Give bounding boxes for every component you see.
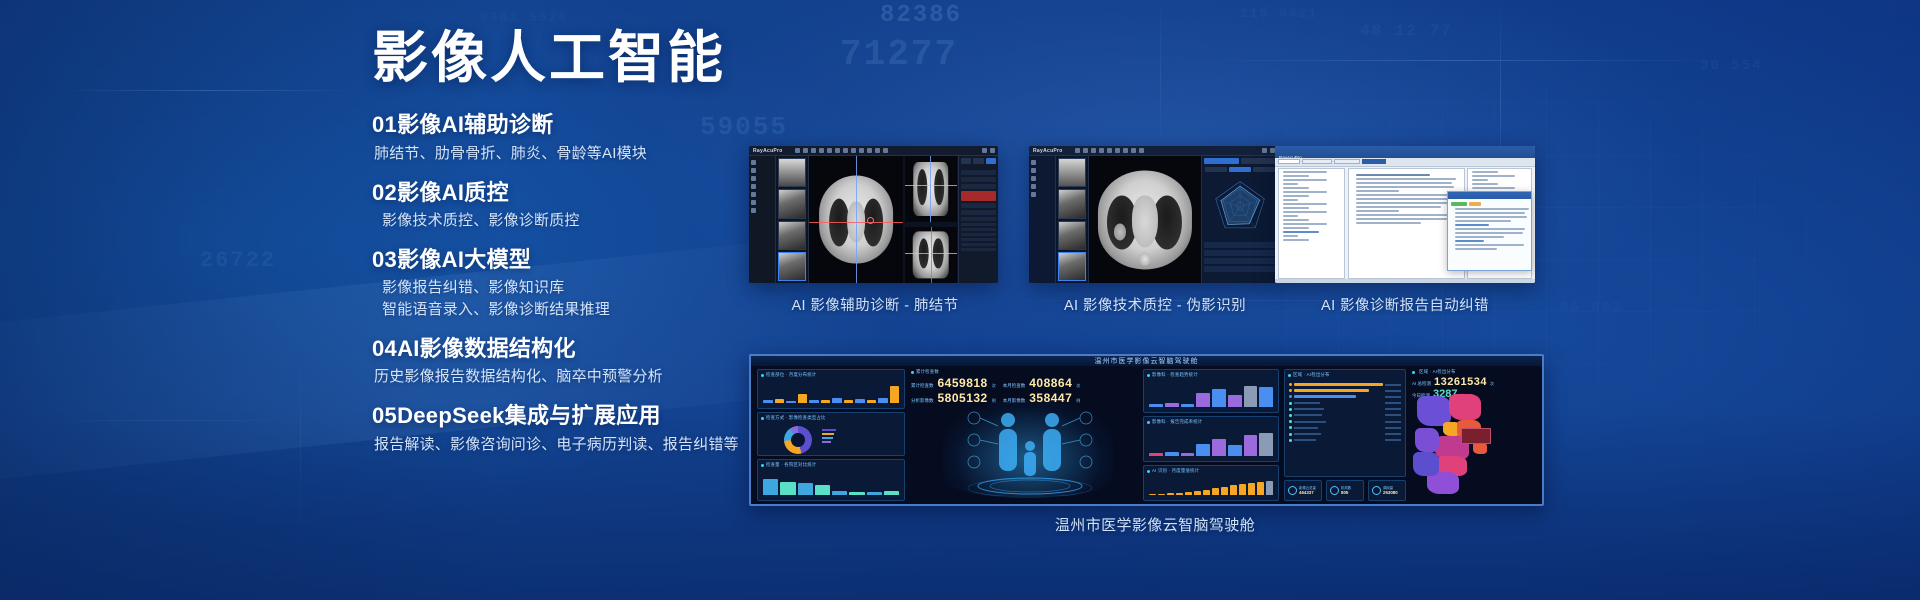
qc-viewer-ui: RayAcuPro xyxy=(1029,146,1278,283)
rail-icon-export[interactable] xyxy=(751,192,756,197)
ranking-row[interactable] xyxy=(1289,383,1401,386)
tool-icon-text[interactable] xyxy=(1123,148,1128,153)
ct-left-toolrail[interactable] xyxy=(749,156,776,283)
dashboard-card-region-ranking[interactable]: 区域 · AI检出分布 xyxy=(1284,369,1406,477)
tool-icon-arrow[interactable] xyxy=(859,148,864,153)
cloud-icon xyxy=(1288,486,1297,495)
findings-row[interactable] xyxy=(961,243,996,246)
qc-filter-all[interactable] xyxy=(1205,167,1227,172)
card-title: 影像科 · 检查趋势统计 xyxy=(1152,372,1198,378)
rail-icon-compare[interactable] xyxy=(751,208,756,213)
qc-radar-chart xyxy=(1205,178,1275,236)
tool-icon-pan[interactable] xyxy=(811,148,816,153)
dashboard-tile-cloud-total[interactable]: 影像云总量 464337 xyxy=(1284,480,1322,501)
radar-svg xyxy=(1205,178,1275,236)
tool-icon-text[interactable] xyxy=(851,148,856,153)
dashboard-region-map[interactable] xyxy=(1413,394,1499,498)
findings-row[interactable] xyxy=(961,210,996,215)
series-thumbnail[interactable] xyxy=(778,221,805,250)
ct-series-thumbnails[interactable] xyxy=(776,156,808,283)
bar-chart-report-rate xyxy=(1149,431,1273,456)
pie-legend xyxy=(822,429,836,443)
ranking-row[interactable] xyxy=(1289,408,1401,411)
dashboard-tile-institutions[interactable]: 机构数 805 xyxy=(1326,480,1364,501)
ai-kpi-value-1: 13261534 xyxy=(1434,376,1487,388)
rail-icon-mpr[interactable] xyxy=(751,168,756,173)
findings-row[interactable] xyxy=(961,248,996,251)
ranking-row[interactable] xyxy=(1289,420,1401,423)
card-title: 检查方式 · 影像检查类型占比 xyxy=(766,415,826,421)
ranking-row[interactable] xyxy=(1289,395,1401,398)
ranking-row[interactable] xyxy=(1289,433,1401,436)
bar-chart-ai-monthly xyxy=(1149,480,1273,495)
map-region-wencheng[interactable] xyxy=(1415,428,1439,452)
qc-left-toolrail[interactable] xyxy=(1029,156,1056,283)
kpi-label-2: 本月检查数 xyxy=(1003,383,1026,389)
feature-item-01: 01影像AI辅助诊断 肺结节、肋骨骨折、肺炎、骨龄等AI模块 xyxy=(372,110,802,164)
kpi-unit-2: 次 xyxy=(1076,383,1080,389)
feature-item-02: 02影像AI质控 影像技术质控、影像诊断质控 xyxy=(372,178,802,232)
rail-icon-print[interactable] xyxy=(751,200,756,205)
ranking-row[interactable] xyxy=(1289,402,1401,405)
tool-icon-zoom[interactable] xyxy=(1083,148,1088,153)
toolbar-icons[interactable] xyxy=(795,148,888,153)
qc-toolbar[interactable]: RayAcuPro xyxy=(1029,146,1278,156)
feature-item-05: 05DeepSeek集成与扩展应用 报告解读、影像咨询问诊、电子病历判读、报告纠… xyxy=(372,401,802,455)
feature-subtitle-01: 肺结节、肋骨骨折、肺炎、骨龄等AI模块 xyxy=(374,143,802,165)
ai-kpi-section-title: 区域 · AI检出分布 xyxy=(1419,369,1456,375)
findings-row[interactable] xyxy=(961,177,996,182)
pie-chart-modality-ratio xyxy=(784,426,812,454)
ct-ai-findings-panel[interactable] xyxy=(958,156,998,283)
rail-icon-series[interactable] xyxy=(1031,160,1036,165)
qc-findings-row[interactable] xyxy=(1204,250,1276,256)
series-thumbnail[interactable] xyxy=(1058,189,1085,218)
findings-row-selected[interactable] xyxy=(961,191,996,201)
series-thumbnail[interactable] xyxy=(1058,158,1085,187)
series-thumbnail[interactable] xyxy=(778,158,805,187)
qc-findings-row[interactable] xyxy=(1204,258,1276,264)
bar-chart-exam-distribution xyxy=(763,384,899,403)
app-brand-label: RayAcuPro xyxy=(749,148,783,154)
qc-filter-normal[interactable] xyxy=(1253,167,1275,172)
series-thumbnail[interactable] xyxy=(778,189,805,218)
tool-icon-measure[interactable] xyxy=(827,148,832,153)
feature-title-01: 01影像AI辅助诊断 xyxy=(372,110,802,139)
ct-viewer-ui: RayAcuPro xyxy=(749,146,998,283)
feature-subtitle-02: 影像技术质控、影像诊断质控 xyxy=(382,210,802,232)
kpi-section-title: 累计检查数 xyxy=(916,369,939,375)
feature-title-03: 03影像AI大模型 xyxy=(372,245,802,274)
tile-value: 464337 xyxy=(1299,490,1316,495)
minimize-icon[interactable] xyxy=(1262,148,1267,153)
tool-icon-roi[interactable] xyxy=(1115,148,1120,153)
dashboard-card-report-rate[interactable]: 影像科 · 报告完成率统计 xyxy=(1143,416,1279,462)
hologram-svg xyxy=(956,400,1104,496)
map-region-yueqing[interactable] xyxy=(1449,394,1481,420)
ct-sagittal-view[interactable] xyxy=(905,227,957,283)
screenshot-ct-nodule[interactable]: RayAcuPro xyxy=(749,146,998,283)
eye-icon xyxy=(1372,486,1381,495)
series-thumbnail[interactable] xyxy=(778,252,805,281)
close-icon[interactable] xyxy=(990,148,995,153)
tool-icon-invert[interactable] xyxy=(1131,148,1136,153)
qc-analysis-panel[interactable] xyxy=(1201,156,1278,283)
report-tab[interactable] xyxy=(1278,159,1300,164)
qc-findings-row[interactable] xyxy=(1204,242,1276,248)
tool-icon-angle[interactable] xyxy=(835,148,840,153)
settings-gear-icon[interactable] xyxy=(982,148,987,153)
report-statusbar xyxy=(1275,279,1535,283)
card-title: 检查部位 · 月度分布统计 xyxy=(766,372,816,378)
status-badge-warn xyxy=(1469,202,1481,206)
tool-icon-window[interactable] xyxy=(819,148,824,153)
tool-icon-layout[interactable] xyxy=(1139,148,1144,153)
qc-tab-buttons[interactable] xyxy=(1204,158,1276,164)
card-title: 检查量 · 各院区对比统计 xyxy=(766,462,816,468)
bar-chart-dept-trend xyxy=(1149,384,1273,407)
findings-row[interactable] xyxy=(961,217,996,221)
status-badge-pass xyxy=(1451,202,1467,206)
dashboard-ui: 温州市医学影像云智脑驾驶舱 检查部位 · 月度分布统计 xyxy=(751,356,1542,504)
kpi-unit-1: 次 xyxy=(992,383,996,389)
tool-icon-window[interactable] xyxy=(1099,148,1104,153)
caption-report-autocorrect: AI 影像诊断报告自动纠错 xyxy=(1250,294,1560,315)
feature-title-04: 04AI影像数据结构化 xyxy=(372,334,802,363)
dashboard-card-dept-trend[interactable]: 影像科 · 检查趋势统计 xyxy=(1143,369,1279,413)
rail-icon-ai[interactable] xyxy=(751,184,756,189)
findings-row[interactable] xyxy=(961,233,996,236)
qc-findings-list[interactable] xyxy=(1204,242,1276,272)
findings-row[interactable] xyxy=(961,228,996,231)
findings-row[interactable] xyxy=(961,203,996,208)
kpi-label-3: 分析影像数 xyxy=(911,398,934,404)
series-thumbnail[interactable] xyxy=(1058,221,1085,250)
kpi-value-2: 408864 xyxy=(1029,376,1072,390)
kpi-label-1: 累计检查数 xyxy=(911,383,934,389)
toolbar-icons[interactable] xyxy=(1075,148,1144,153)
series-thumbnail[interactable] xyxy=(1058,252,1085,281)
ranking-row[interactable] xyxy=(1289,426,1401,429)
qc-series-thumbnails[interactable] xyxy=(1056,156,1088,283)
tool-icon-reset[interactable] xyxy=(875,148,880,153)
dashboard-card-campus-compare[interactable]: 检查量 · 各院区对比统计 xyxy=(757,459,905,501)
dashboard-card-exam-distribution[interactable]: 检查部位 · 月度分布统计 xyxy=(757,369,905,409)
feature-subtitle-05: 报告解读、影像咨询问诊、电子病历判读、报告纠错等 xyxy=(374,434,802,456)
rail-icon-ai[interactable] xyxy=(1031,176,1036,181)
report-tabbar[interactable] xyxy=(1275,158,1535,166)
tool-icon-roi[interactable] xyxy=(843,148,848,153)
ct-axial-view[interactable] xyxy=(809,156,904,283)
findings-action-buttons[interactable] xyxy=(961,158,996,164)
tool-icon-invert[interactable] xyxy=(867,148,872,153)
rail-icon-report[interactable] xyxy=(1031,184,1036,189)
rail-icon-series[interactable] xyxy=(751,160,756,165)
screenshot-report-autocorrect[interactable]: RayAcuPro xyxy=(1275,146,1535,283)
findings-row[interactable] xyxy=(961,238,996,241)
findings-button-export[interactable] xyxy=(973,158,983,164)
findings-button-save[interactable] xyxy=(961,158,971,164)
feature-list-column: 影像人工智能 01影像AI辅助诊断 肺结节、肋骨骨折、肺炎、骨龄等AI模块 02… xyxy=(372,28,802,468)
report-titlebar[interactable]: RayAcuPro xyxy=(1275,146,1535,158)
report-worklist-tree[interactable] xyxy=(1278,168,1346,279)
rail-icon-3d[interactable] xyxy=(751,176,756,181)
card-title: AI 识别 · 月度量值统计 xyxy=(1152,468,1199,474)
qc-main-image[interactable] xyxy=(1089,156,1201,283)
ct-coronal-view[interactable] xyxy=(905,156,957,222)
tool-icon-zoom[interactable] xyxy=(803,148,808,153)
ai-kpi-unit-1: 次 xyxy=(1490,381,1494,387)
report-tab[interactable] xyxy=(1302,159,1332,164)
ct-toolbar[interactable]: RayAcuPro xyxy=(749,146,998,156)
banner-root: 82386 71277 59055 26722 48 12 77 30 554 … xyxy=(0,0,1920,600)
tool-icon-cursor[interactable] xyxy=(795,148,800,153)
dashboard-card-modality-ratio[interactable]: 检查方式 · 影像检查类型占比 xyxy=(757,412,905,456)
map-region-taishun[interactable] xyxy=(1413,452,1439,476)
findings-row[interactable] xyxy=(961,184,996,189)
report-editor-ui: RayAcuPro xyxy=(1275,146,1535,283)
tool-icon-cursor[interactable] xyxy=(1075,148,1080,153)
screenshot-qc-artifact[interactable]: RayAcuPro xyxy=(1029,146,1278,283)
feature-title-05: 05DeepSeek集成与扩展应用 xyxy=(372,401,802,430)
screenshot-dashboard[interactable]: 温州市医学影像云智脑驾驶舱 检查部位 · 月度分布统计 xyxy=(749,354,1544,506)
qc-tab-quality[interactable] xyxy=(1204,158,1239,164)
ranking-row[interactable] xyxy=(1289,414,1401,417)
tool-icon-layout[interactable] xyxy=(883,148,888,153)
tile-value: 805 xyxy=(1341,490,1351,495)
rail-icon-qc[interactable] xyxy=(1031,168,1036,173)
caption-dashboard: 温州市医学影像云智脑驾驶舱 xyxy=(975,514,1335,535)
qc-filter-abnormal[interactable] xyxy=(1229,167,1251,172)
tool-icon-measure[interactable] xyxy=(1107,148,1112,153)
page-title: 影像人工智能 xyxy=(372,28,802,88)
card-title: 区域 · AI检出分布 xyxy=(1293,372,1330,378)
bar-chart-campus-compare xyxy=(763,474,899,495)
card-title: 影像科 · 报告完成率统计 xyxy=(1152,419,1202,425)
map-tooltip xyxy=(1461,428,1491,444)
dashboard-card-ai-monthly[interactable]: AI 识别 · 月度量值统计 xyxy=(1143,465,1279,501)
report-tab[interactable] xyxy=(1334,159,1360,164)
qc-tab-artifact[interactable] xyxy=(1241,158,1276,164)
findings-row[interactable] xyxy=(961,170,996,175)
app-brand-label: RayAcuPro xyxy=(1029,148,1063,154)
tool-icon-pan[interactable] xyxy=(1091,148,1096,153)
findings-row[interactable] xyxy=(961,223,996,226)
report-tab-active[interactable] xyxy=(1362,159,1386,164)
kpi-value-1: 6459818 xyxy=(938,376,988,390)
dashboard-title-bar: 温州市医学影像云智脑驾驶舱 xyxy=(751,356,1542,366)
findings-button-ai-run[interactable] xyxy=(986,158,996,164)
ranking-list[interactable] xyxy=(1289,383,1401,442)
ranking-row[interactable] xyxy=(1289,439,1401,442)
autocorrect-suggestion-popup[interactable] xyxy=(1447,191,1533,270)
dashboard-tile-retrievals[interactable]: 调阅量 253080 xyxy=(1368,480,1406,501)
tile-value: 253080 xyxy=(1383,490,1398,495)
feature-title-02: 02影像AI质控 xyxy=(372,178,802,207)
feature-subtitle-04: 历史影像报告数据结构化、脑卒中预警分析 xyxy=(374,366,802,388)
ai-kpi-label-1: AI 总检测 xyxy=(1412,381,1431,387)
qc-findings-row[interactable] xyxy=(1204,266,1276,272)
rail-icon-settings[interactable] xyxy=(1031,192,1036,197)
findings-list[interactable] xyxy=(961,170,996,251)
ranking-row[interactable] xyxy=(1289,389,1401,392)
feature-item-04: 04AI影像数据结构化 历史影像报告数据结构化、脑卒中预警分析 xyxy=(372,334,802,388)
hospital-icon xyxy=(1330,486,1339,495)
